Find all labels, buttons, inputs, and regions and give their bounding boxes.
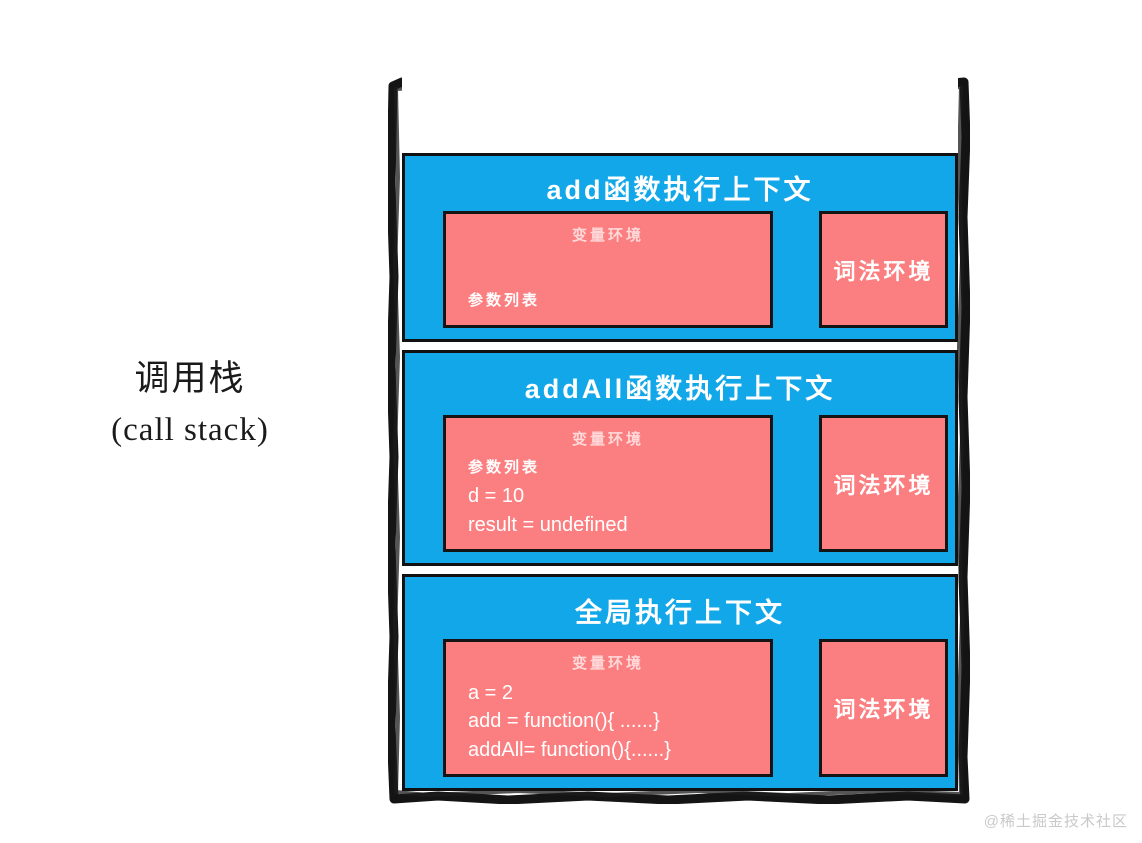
variable-environment-lines-global: a = 2 add = function(){ ......} addAll= … bbox=[468, 679, 762, 764]
lexical-environment-title-global: 词法环境 bbox=[833, 692, 933, 724]
call-stack-container: add函数执行上下文 变量环境 参数列表 词法环境 addAll函数执行上下文 … bbox=[388, 77, 970, 804]
lexical-environment-add[interactable]: 词法环境 bbox=[819, 211, 948, 328]
frame-title-add: add函数执行上下文 bbox=[405, 156, 955, 207]
lexical-environment-title-add: 词法环境 bbox=[833, 254, 933, 286]
lexical-environment-title-addall: 词法环境 bbox=[833, 468, 933, 500]
call-stack-caption-en: (call stack) bbox=[0, 408, 380, 453]
call-stack-frames: add函数执行上下文 变量环境 参数列表 词法环境 addAll函数执行上下文 … bbox=[402, 90, 958, 791]
watermark: @稀土掘金技术社区 bbox=[984, 810, 1128, 831]
variable-line: add = function(){ ......} bbox=[468, 707, 762, 735]
variable-line: a = 2 bbox=[468, 679, 762, 707]
variable-environment-title-addall: 变量环境 bbox=[446, 428, 770, 449]
call-stack-caption-cn: 调用栈 bbox=[0, 355, 380, 402]
variable-environment-addall[interactable]: 变量环境 参数列表 d = 10 result = undefined bbox=[443, 415, 773, 552]
variable-line: 参数列表 bbox=[468, 287, 762, 316]
variable-environment-lines-addall: 参数列表 d = 10 result = undefined bbox=[468, 454, 762, 539]
variable-line: result = undefined bbox=[468, 511, 762, 539]
variable-environment-global[interactable]: 变量环境 a = 2 add = function(){ ......} add… bbox=[443, 639, 773, 777]
execution-context-frame-add[interactable]: add函数执行上下文 变量环境 参数列表 词法环境 bbox=[402, 153, 958, 342]
lexical-environment-addall[interactable]: 词法环境 bbox=[819, 415, 948, 552]
variable-environment-title-global: 变量环境 bbox=[446, 652, 770, 673]
frame-title-global: 全局执行上下文 bbox=[405, 577, 955, 630]
variable-environment-add[interactable]: 变量环境 参数列表 bbox=[443, 211, 773, 328]
variable-line: 参数列表 bbox=[468, 454, 762, 483]
variable-line: d = 10 bbox=[468, 482, 762, 510]
variable-environment-lines-add: 参数列表 bbox=[468, 287, 762, 316]
frame-title-addall: addAll函数执行上下文 bbox=[405, 353, 955, 406]
stack-empty-slot bbox=[402, 75, 958, 153]
execution-context-frame-addall[interactable]: addAll函数执行上下文 变量环境 参数列表 d = 10 result = … bbox=[402, 350, 958, 566]
lexical-environment-global[interactable]: 词法环境 bbox=[819, 639, 948, 777]
variable-environment-title-add: 变量环境 bbox=[446, 224, 770, 245]
variable-line: addAll= function(){......} bbox=[468, 736, 762, 764]
execution-context-frame-global[interactable]: 全局执行上下文 变量环境 a = 2 add = function(){ ...… bbox=[402, 574, 958, 791]
call-stack-caption: 调用栈 (call stack) bbox=[0, 355, 380, 453]
